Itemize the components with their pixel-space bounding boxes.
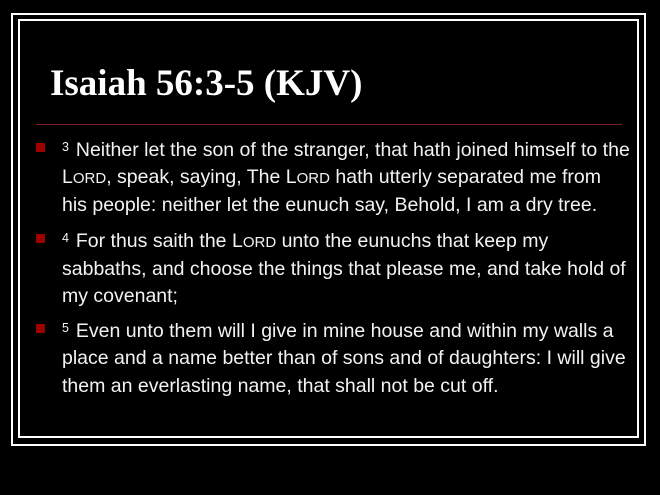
divine-name-cap: L bbox=[232, 230, 243, 252]
list-item: 5 Even unto them will I give in mine hou… bbox=[30, 315, 630, 400]
list-item: 4 For thus saith the LORD unto the eunuc… bbox=[30, 225, 630, 311]
divine-name-smallcaps-1: LORD bbox=[62, 166, 106, 188]
slide-title-container: Isaiah 56:3-5 (KJV) bbox=[50, 62, 610, 114]
verse-text-segment-1: For thus saith the bbox=[70, 230, 232, 252]
page-title: Isaiah 56:3-5 (KJV) bbox=[50, 62, 610, 106]
bullet-text-verse-4: 4 For thus saith the LORD unto the eunuc… bbox=[62, 225, 630, 311]
divine-name-smallcaps: ORD bbox=[243, 234, 276, 251]
bullet-text-verse-3: 3 Neither let the son of the stranger, t… bbox=[62, 134, 630, 220]
divine-name-smallcaps-1: LORD bbox=[232, 230, 276, 252]
list-item: 3 Neither let the son of the stranger, t… bbox=[30, 134, 630, 220]
divine-name-cap: L bbox=[286, 166, 297, 188]
presentation-slide: Isaiah 56:3-5 (KJV) 3 Neither let the so… bbox=[0, 0, 660, 495]
bullet-text-verse-5: 5 Even unto them will I give in mine hou… bbox=[62, 315, 630, 400]
verse-text-segment-2: , speak, saying, The bbox=[106, 166, 286, 188]
red-square-bullet-icon bbox=[36, 143, 45, 152]
divine-name-smallcaps-2: LORD bbox=[286, 166, 330, 188]
title-divider-rule bbox=[36, 124, 622, 125]
divine-name-smallcaps: ORD bbox=[297, 170, 330, 187]
divine-name-smallcaps: ORD bbox=[73, 170, 106, 187]
divine-name-cap: L bbox=[62, 166, 73, 188]
verse-text-segment-1: Neither let the son of the stranger, tha… bbox=[70, 139, 629, 161]
red-square-bullet-icon bbox=[36, 234, 45, 243]
red-square-bullet-icon bbox=[36, 324, 45, 333]
verse-text-segment-1: Even unto them will I give in mine house… bbox=[62, 320, 626, 396]
slide-body-bullet-list: 3 Neither let the son of the stranger, t… bbox=[30, 134, 630, 400]
